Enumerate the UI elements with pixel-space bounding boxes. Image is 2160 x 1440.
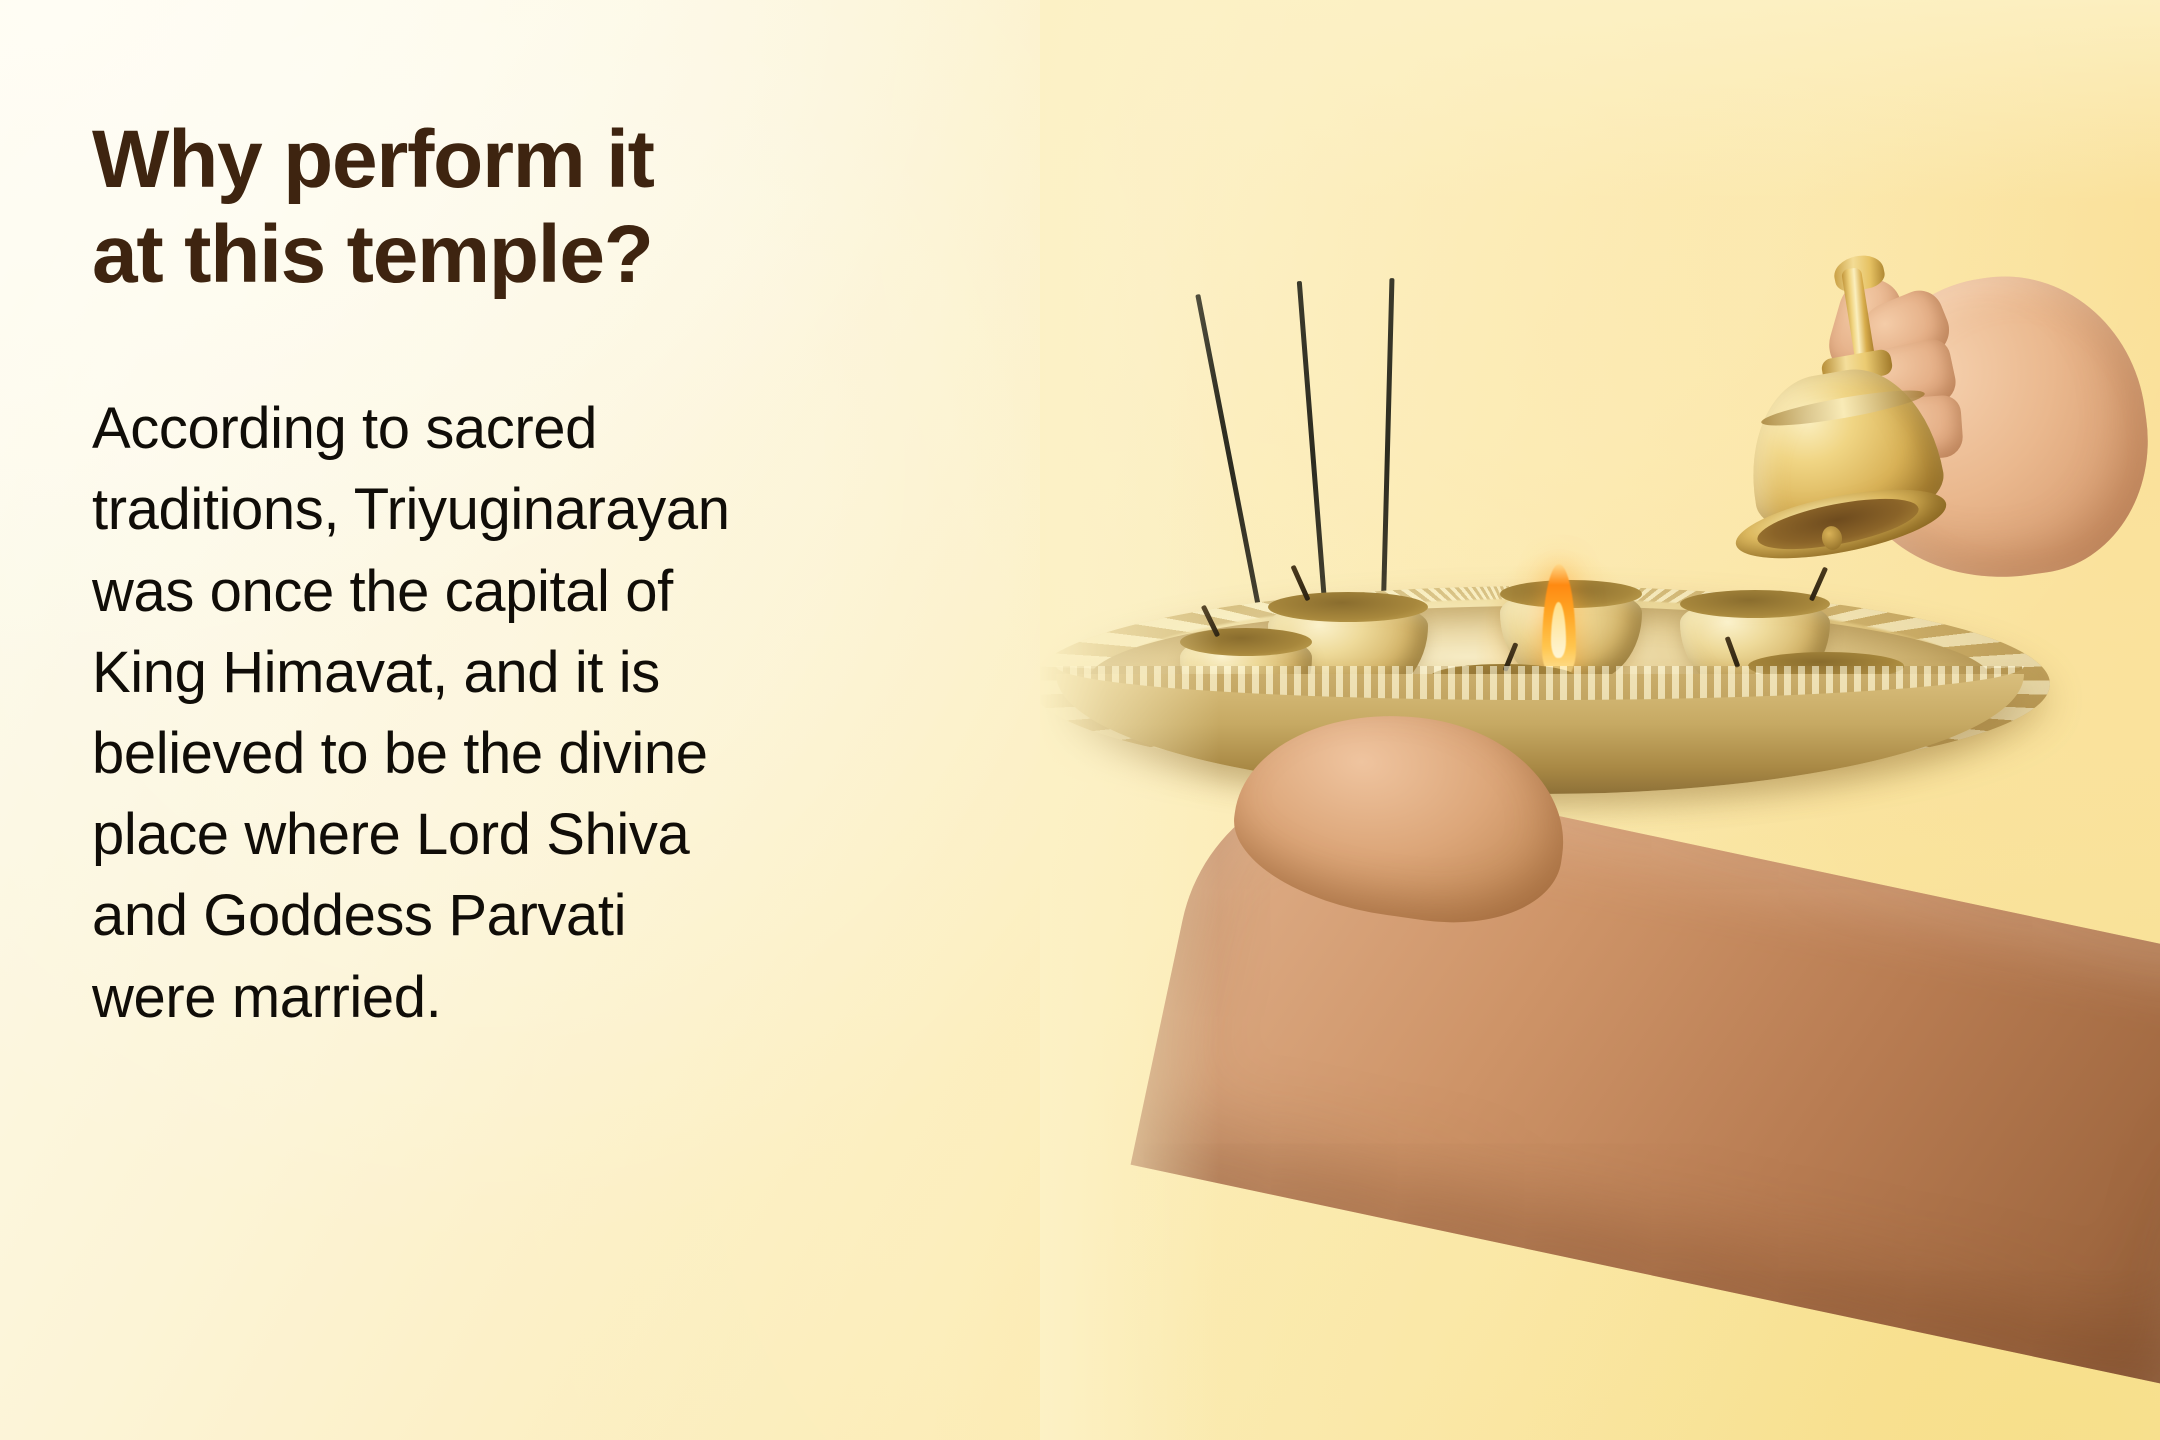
diya-mouth (1180, 628, 1312, 656)
page-title: Why perform it at this temple? (92, 112, 1032, 302)
body-paragraph: According to sacred traditions, Triyugin… (92, 388, 792, 1038)
text-column: Why perform it at this temple? According… (92, 112, 1032, 1038)
diya-mouth (1268, 592, 1428, 622)
puja-photo (1040, 0, 2160, 1440)
slide-canvas: Why perform it at this temple? According… (0, 0, 2160, 1440)
diya-mouth (1680, 590, 1830, 618)
